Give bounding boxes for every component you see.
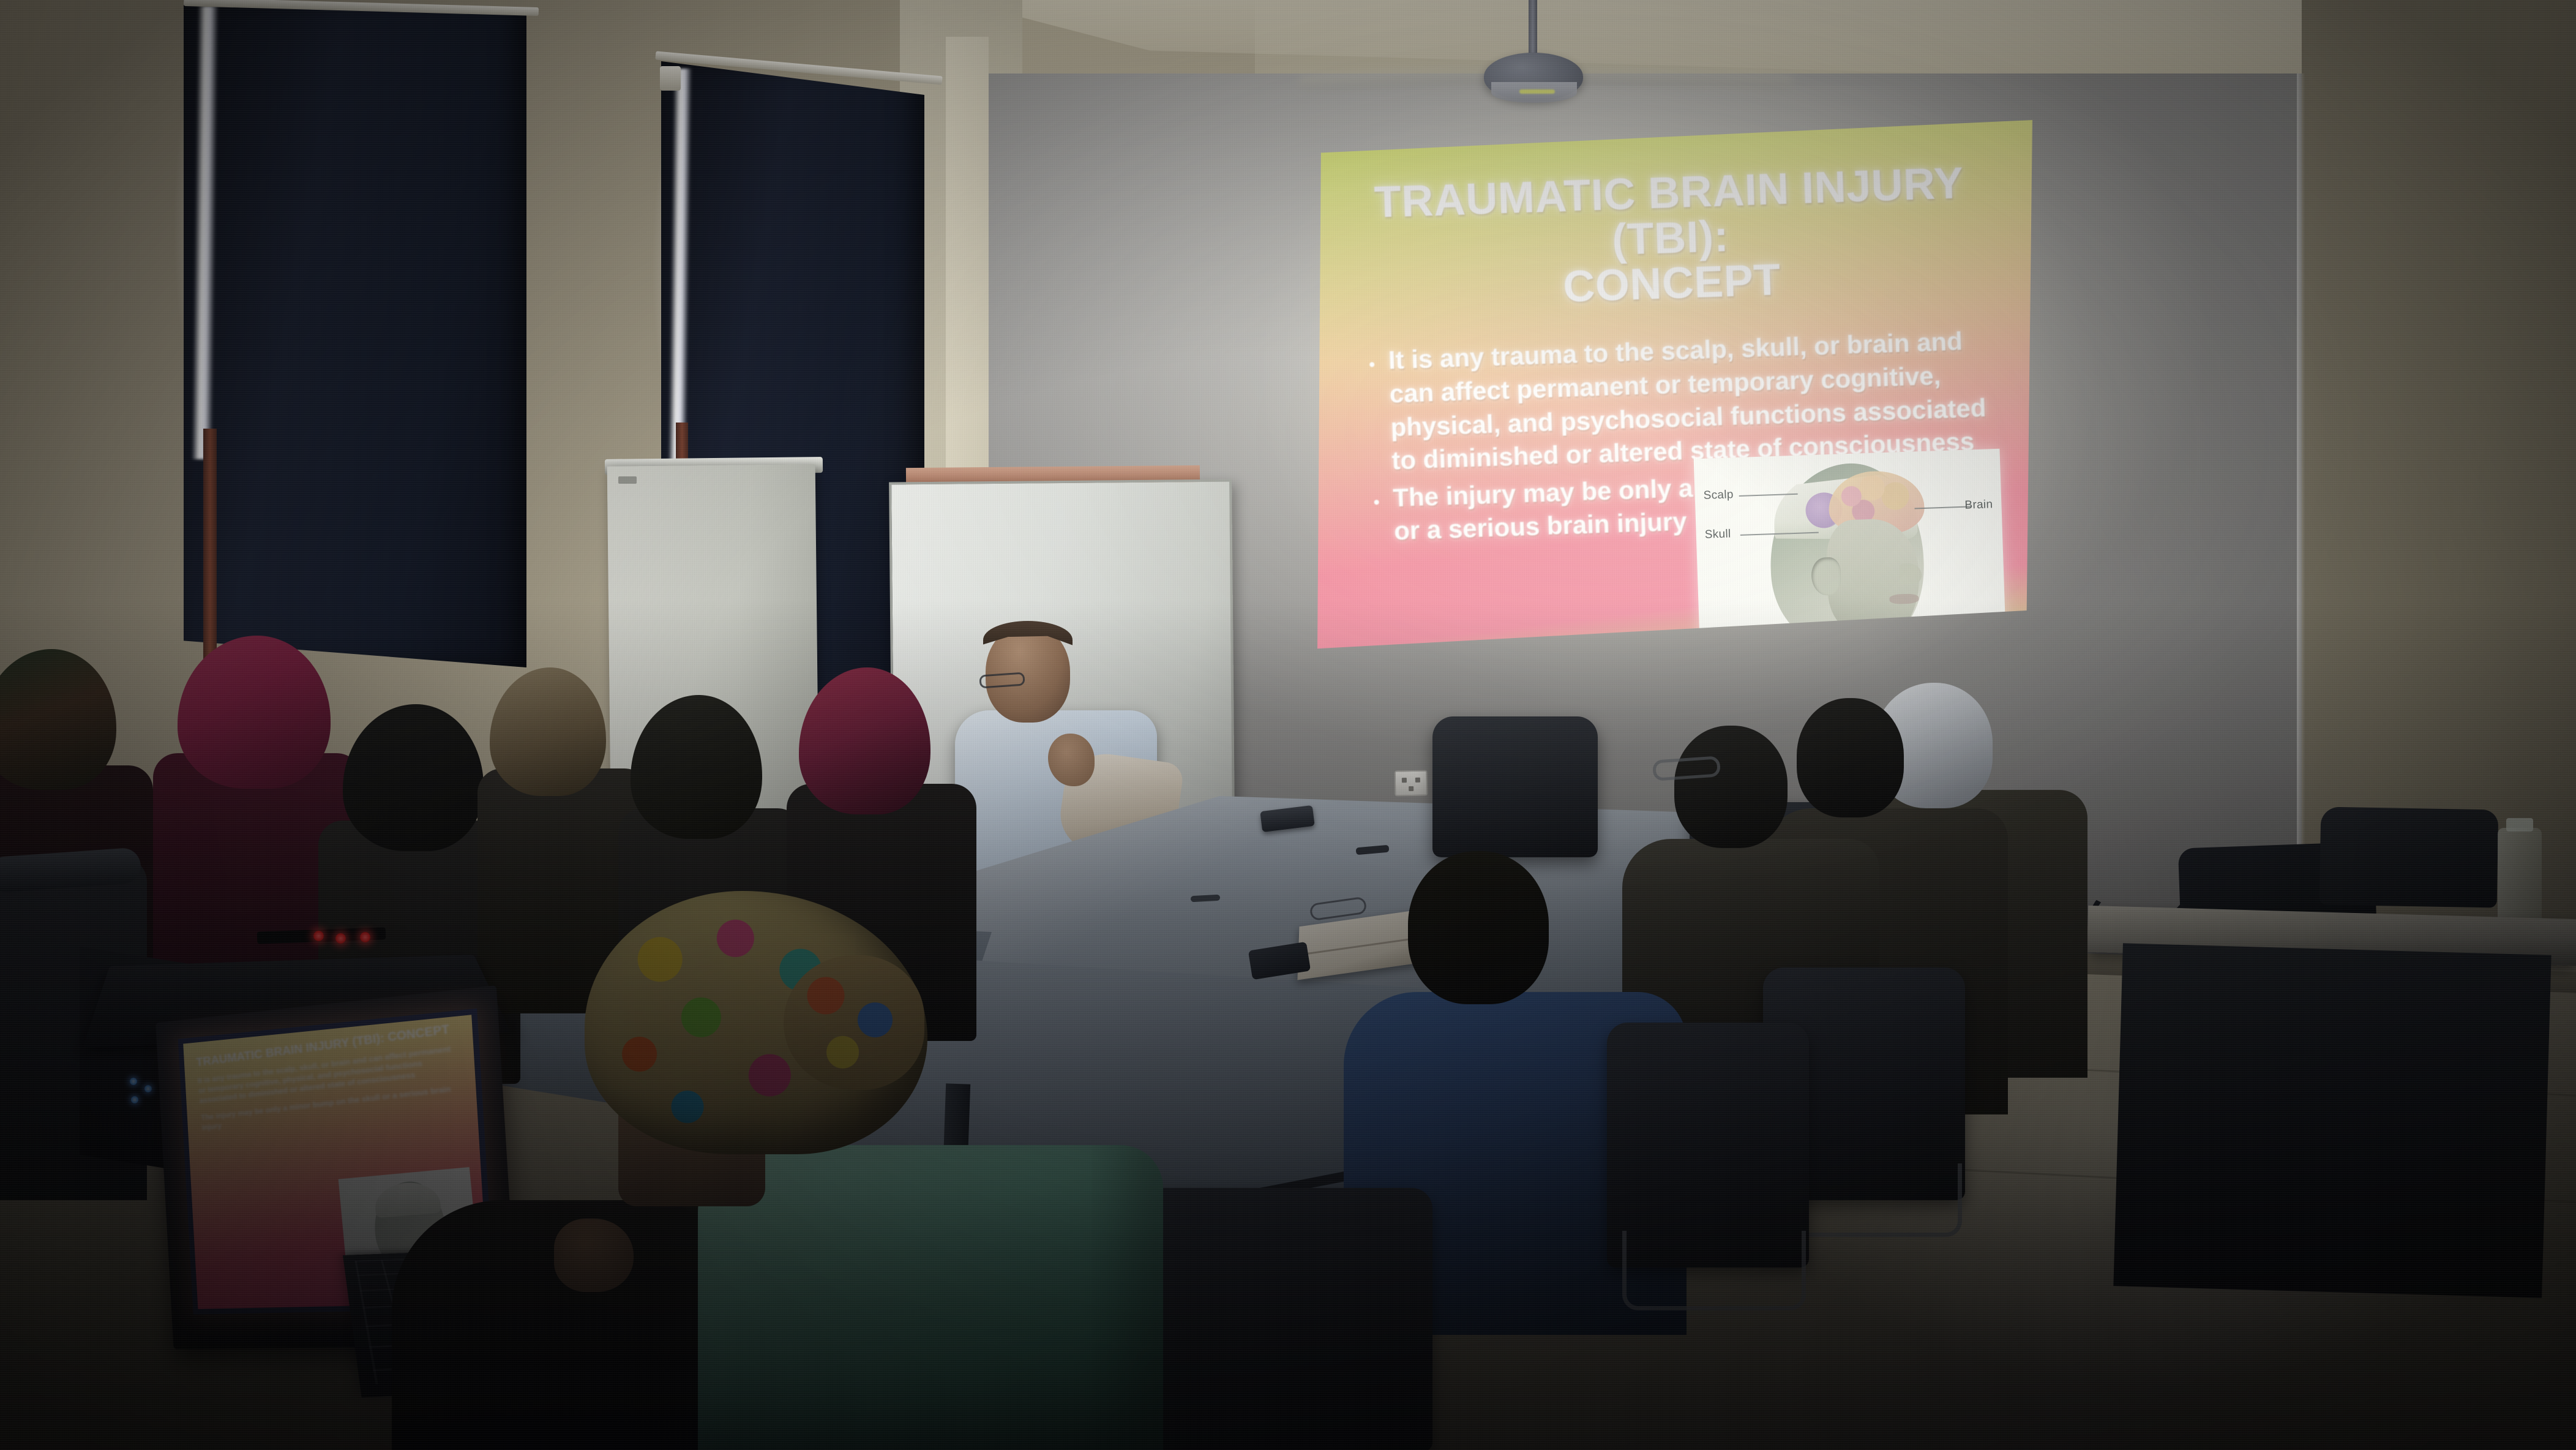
ceiling-fan-light-strip <box>1519 89 1555 94</box>
foreground-green-top <box>698 1145 1163 1450</box>
status-led-indicator <box>335 933 346 944</box>
power-led-indicator <box>313 931 324 941</box>
curtain-bracket <box>660 66 681 91</box>
ceiling-fan-rod <box>1529 0 1537 59</box>
slide-title: TRAUMATIC BRAIN INJURY (TBI): CONCEPT <box>1343 160 1998 318</box>
status-led-indicator <box>130 1078 137 1085</box>
seminar-room-photo: TRAUMATIC BRAIN INJURY (TBI): CONCEPT It… <box>0 0 2576 1450</box>
blackout-curtain[interactable] <box>184 0 526 667</box>
office-chair[interactable] <box>1432 716 1598 857</box>
wall-power-socket[interactable] <box>1395 770 1428 797</box>
anatomy-label-skull: Skull <box>1704 527 1731 541</box>
flipchart-brand-badge <box>618 476 637 484</box>
window-frame <box>203 429 217 686</box>
water-bottle[interactable] <box>2498 828 2542 926</box>
chair-base-frame <box>1622 1231 1806 1310</box>
foreground-hand <box>554 1219 634 1292</box>
projected-slide: TRAUMATIC BRAIN INJURY (TBI): CONCEPT It… <box>1317 120 2032 665</box>
anatomy-label-brain: Brain <box>1964 498 1993 513</box>
attendee-head <box>1408 851 1549 1004</box>
handbag[interactable] <box>2320 806 2499 907</box>
socket-slot <box>1409 786 1413 791</box>
socket-slot <box>1415 778 1420 783</box>
anatomy-label-scalp: Scalp <box>1703 488 1734 503</box>
status-led-indicator <box>144 1085 152 1092</box>
side-table-body <box>2113 943 2551 1298</box>
status-led-indicator <box>360 932 370 942</box>
status-led-indicator <box>131 1096 138 1103</box>
laptop-anatomy-cutaway <box>373 1180 441 1218</box>
headwrap-knot <box>784 955 924 1090</box>
socket-slot <box>1402 778 1407 783</box>
attendee-head <box>1797 698 1904 817</box>
attendee-head <box>1674 726 1788 848</box>
laptop-slide-title-line-2: CONCEPT <box>387 1023 450 1045</box>
